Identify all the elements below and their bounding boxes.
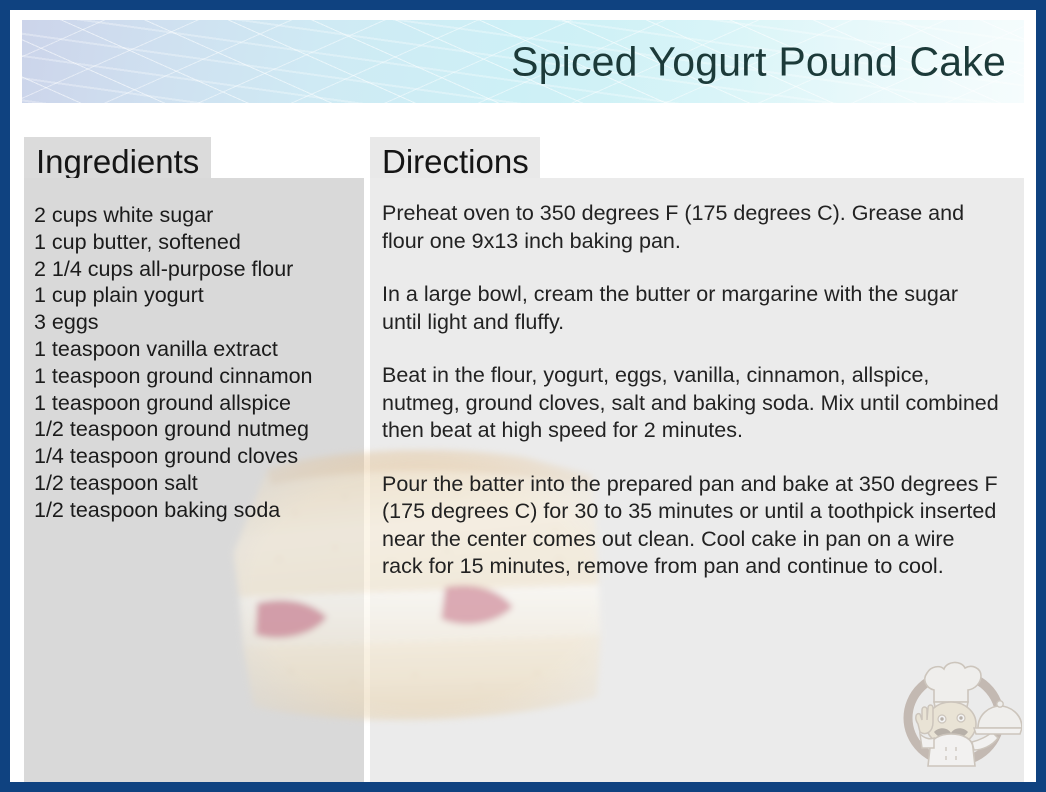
direction-step: In a large bowl, cream the butter or mar… [382, 281, 1000, 336]
ingredient-item: 1/2 teaspoon salt [34, 470, 354, 497]
recipe-card: Spiced Yogurt Pound Cake Ingredients 2 c… [0, 0, 1046, 792]
direction-step: Pour the batter into the prepared pan an… [382, 471, 1000, 581]
directions-panel: Preheat oven to 350 degrees F (175 degre… [370, 178, 1024, 786]
tab-ingredients: Ingredients [24, 137, 211, 179]
ingredient-item: 2 1/4 cups all-purpose flour [34, 256, 354, 283]
ingredient-item: 1 teaspoon vanilla extract [34, 336, 354, 363]
ingredient-item: 2 cups white sugar [34, 202, 354, 229]
ingredient-item: 3 eggs [34, 309, 354, 336]
ingredient-item: 1/4 teaspoon ground cloves [34, 443, 354, 470]
direction-step: Preheat oven to 350 degrees F (175 degre… [382, 200, 1000, 255]
recipe-title: Spiced Yogurt Pound Cake [511, 38, 1006, 85]
ingredient-item: 1 cup butter, softened [34, 229, 354, 256]
ingredients-panel: 2 cups white sugar 1 cup butter, softene… [24, 178, 364, 786]
ingredient-item: 1 teaspoon ground cinnamon [34, 363, 354, 390]
ingredient-item: 1 cup plain yogurt [34, 282, 354, 309]
header-banner: Spiced Yogurt Pound Cake [22, 20, 1024, 103]
directions-list: Preheat oven to 350 degrees F (175 degre… [370, 178, 1024, 581]
ingredient-item: 1/2 teaspoon ground nutmeg [34, 416, 354, 443]
ingredient-item: 1/2 teaspoon baking soda [34, 497, 354, 524]
direction-step: Beat in the flour, yogurt, eggs, vanilla… [382, 362, 1000, 445]
ingredient-item: 1 teaspoon ground allspice [34, 390, 354, 417]
tab-directions: Directions [370, 137, 540, 179]
ingredients-list: 2 cups white sugar 1 cup butter, softene… [24, 178, 364, 524]
